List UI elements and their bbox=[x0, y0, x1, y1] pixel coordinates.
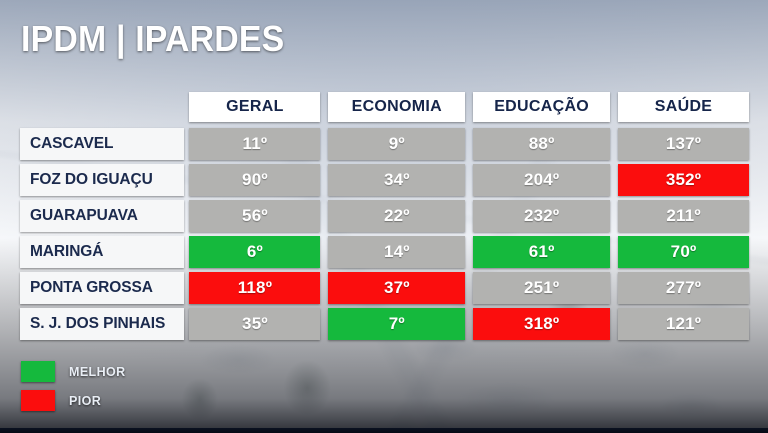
legend-label-best: MELHOR bbox=[69, 365, 126, 379]
row-label: S. J. DOS PINHAIS bbox=[20, 308, 184, 340]
table-cell: 56º bbox=[189, 200, 320, 232]
table-corner-cell bbox=[20, 92, 184, 122]
table-cell: 22º bbox=[328, 200, 465, 232]
table-header-row: GERAL ECONOMIA EDUCAÇÃO SAÚDE bbox=[20, 92, 749, 122]
table-cell: 88º bbox=[473, 128, 610, 160]
table-cell: 6º bbox=[189, 236, 320, 268]
table-cell: 70º bbox=[618, 236, 749, 268]
ranking-table: GERAL ECONOMIA EDUCAÇÃO SAÚDE CASCAVEL 1… bbox=[20, 92, 749, 340]
row-label: PONTA GROSSA bbox=[20, 272, 184, 304]
legend-item-best: MELHOR bbox=[21, 361, 126, 382]
column-header-educacao[interactable]: EDUCAÇÃO bbox=[473, 92, 610, 122]
table-cell: 34º bbox=[328, 164, 465, 196]
table-cell: 251º bbox=[473, 272, 610, 304]
page-title: IPDM | IPARDES bbox=[21, 18, 284, 60]
row-label: FOZ DO IGUAÇU bbox=[20, 164, 184, 196]
table-cell: 137º bbox=[618, 128, 749, 160]
table-row: FOZ DO IGUAÇU 90º 34º 204º 352º bbox=[20, 164, 749, 196]
table-row: CASCAVEL 11º 9º 88º 137º bbox=[20, 128, 749, 160]
table-row: GUARAPUAVA 56º 22º 232º 211º bbox=[20, 200, 749, 232]
legend-item-worst: PIOR bbox=[21, 390, 126, 411]
table-cell: 121º bbox=[618, 308, 749, 340]
legend: MELHOR PIOR bbox=[21, 361, 126, 411]
table-row: MARINGÁ 6º 14º 61º 70º bbox=[20, 236, 749, 268]
column-header-geral[interactable]: GERAL bbox=[189, 92, 320, 122]
row-label: CASCAVEL bbox=[20, 128, 184, 160]
table-cell: 37º bbox=[328, 272, 465, 304]
slide-root: IPDM | IPARDES GERAL ECONOMIA EDUCAÇÃO S… bbox=[0, 0, 768, 433]
column-header-saude[interactable]: SAÚDE bbox=[618, 92, 749, 122]
table-cell: 11º bbox=[189, 128, 320, 160]
row-label: MARINGÁ bbox=[20, 236, 184, 268]
table-cell: 9º bbox=[328, 128, 465, 160]
table-cell: 7º bbox=[328, 308, 465, 340]
table-cell: 61º bbox=[473, 236, 610, 268]
table-cell: 211º bbox=[618, 200, 749, 232]
table-row: PONTA GROSSA 118º 37º 251º 277º bbox=[20, 272, 749, 304]
table-cell: 35º bbox=[189, 308, 320, 340]
table-row: S. J. DOS PINHAIS 35º 7º 318º 121º bbox=[20, 308, 749, 340]
table-cell: 277º bbox=[618, 272, 749, 304]
table-cell: 14º bbox=[328, 236, 465, 268]
table-cell: 90º bbox=[189, 164, 320, 196]
legend-swatch-best-icon bbox=[21, 361, 55, 382]
legend-swatch-worst-icon bbox=[21, 390, 55, 411]
legend-label-worst: PIOR bbox=[69, 394, 101, 408]
table-cell: 118º bbox=[189, 272, 320, 304]
column-header-economia[interactable]: ECONOMIA bbox=[328, 92, 465, 122]
table-cell: 352º bbox=[618, 164, 749, 196]
row-label: GUARAPUAVA bbox=[20, 200, 184, 232]
table-cell: 204º bbox=[473, 164, 610, 196]
table-cell: 318º bbox=[473, 308, 610, 340]
bottom-edge-bar bbox=[0, 428, 768, 433]
table-cell: 232º bbox=[473, 200, 610, 232]
